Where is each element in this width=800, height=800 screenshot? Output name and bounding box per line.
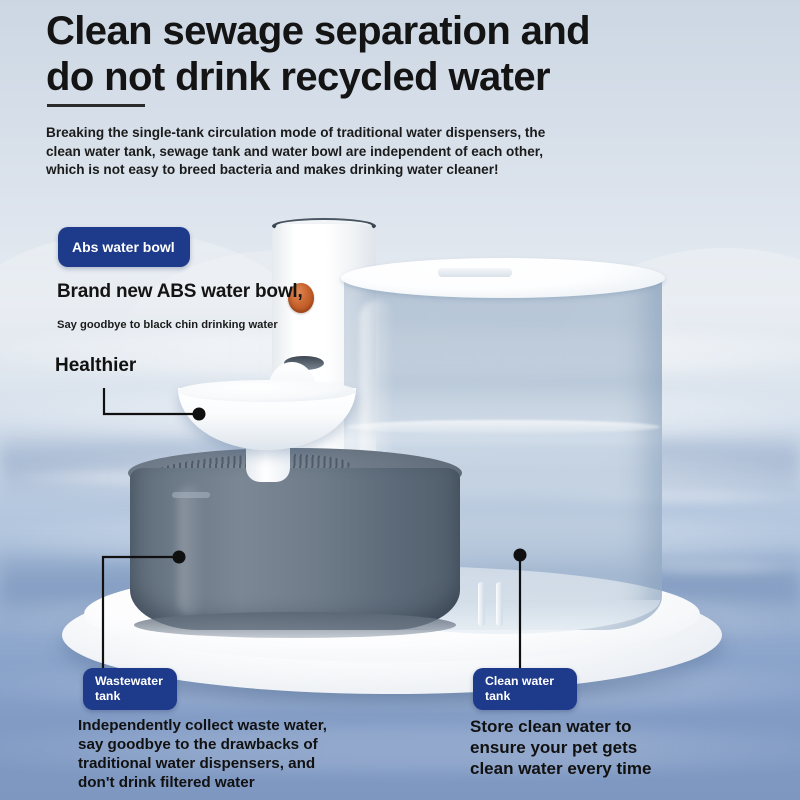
clean-water-level-line [346, 420, 660, 434]
abs-water-bowl-rim [178, 380, 356, 402]
badge-clean-water-tank: Clean water tank [473, 668, 577, 710]
callout-bowl-emphasis: Healthier [55, 355, 136, 377]
clean-water-tank-handle [438, 268, 512, 277]
callout-bowl-sub: Say goodbye to black chin drinking water [57, 319, 278, 331]
page-title: Clean sewage separation and do not drink… [46, 8, 766, 100]
badge-abs-water-bowl: Abs water bowl [58, 227, 190, 267]
product-infographic: Clean sewage separation and do not drink… [0, 0, 800, 800]
callout-bowl-lead: Brand new ABS water bowl, [57, 281, 303, 303]
title-underline [47, 104, 145, 107]
badge-wastewater-tank: Wastewater tank [83, 668, 177, 710]
callout-wastewater-caption: Independently collect waste water, say g… [78, 716, 388, 792]
wastewater-tank-base [134, 612, 456, 638]
clean-water-tank-lid [341, 258, 665, 298]
tank-clip [478, 582, 485, 626]
wastewater-tank-highlight [178, 486, 204, 616]
page-subtitle: Breaking the single-tank circulation mod… [46, 124, 636, 180]
tank-clip [496, 582, 503, 626]
wastewater-tank-notch [172, 492, 210, 498]
callout-cleanwater-caption: Store clean water to ensure your pet get… [470, 716, 770, 779]
